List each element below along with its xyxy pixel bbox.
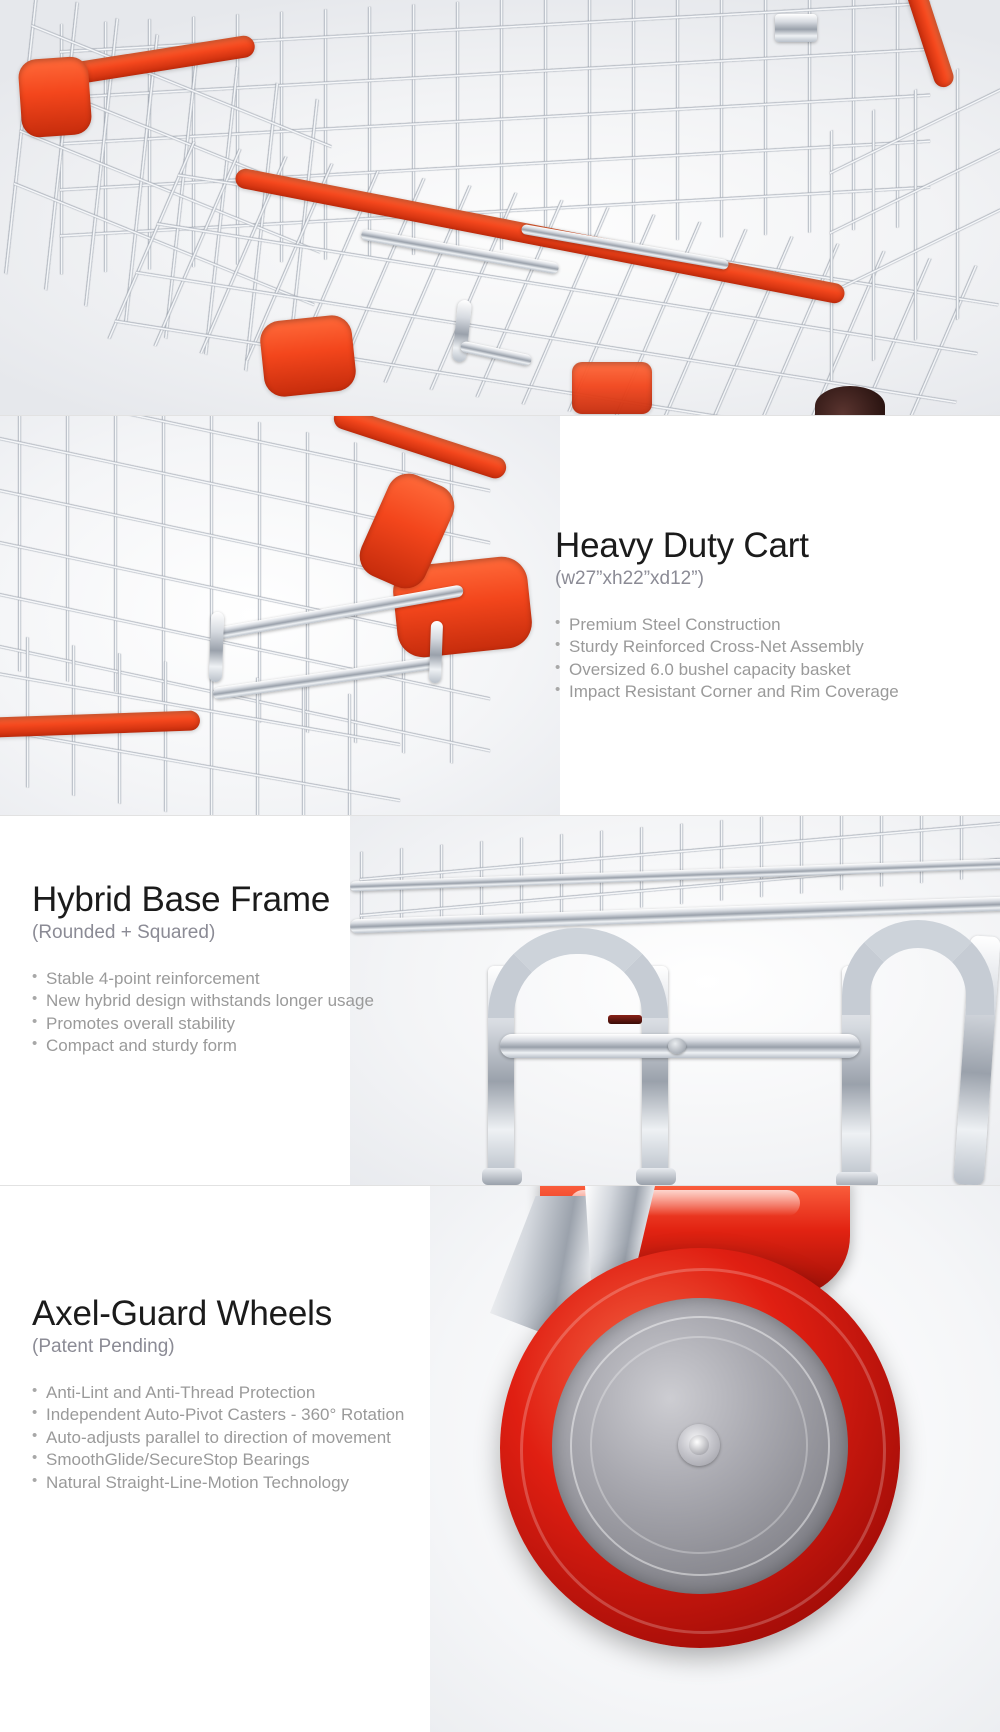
list-item: Stable 4-point reinforcement (32, 968, 452, 990)
list-item: Anti-Lint and Anti-Thread Protection (32, 1382, 472, 1404)
list-item: Independent Auto-Pivot Casters - 360° Ro… (32, 1404, 472, 1426)
infographic-page: Heavy Duty Cart (w27”xh22”xd12”) Premium… (0, 0, 1000, 1732)
feature-list: Stable 4-point reinforcement New hybrid … (32, 968, 452, 1058)
list-item: Sturdy Reinforced Cross-Net Assembly (555, 636, 975, 658)
caster-wheel-photo (430, 1186, 1000, 1732)
list-item: Oversized 6.0 bushel capacity basket (555, 659, 975, 681)
hybrid-base-frame-text: Hybrid Base Frame (Rounded + Squared) St… (32, 882, 452, 1074)
cart-corner-cap-upper-left (17, 56, 92, 139)
section-subheading: (Patent Pending) (32, 1336, 472, 1358)
axel-guard-wheels-text: Axel-Guard Wheels (Patent Pending) Anti-… (32, 1296, 472, 1510)
cart-corner-cap-lower-left (258, 313, 357, 398)
feature-list: Anti-Lint and Anti-Thread Protection Ind… (32, 1382, 472, 1494)
section-divider-1 (0, 415, 1000, 416)
list-item: Promotes overall stability (32, 1013, 452, 1035)
feature-list: Premium Steel Construction Sturdy Reinfo… (555, 614, 975, 704)
section-divider-3 (0, 1185, 1000, 1186)
cart-corner-photo (0, 416, 560, 815)
section-axel-guard-wheels: Axel-Guard Wheels (Patent Pending) Anti-… (0, 1186, 1000, 1732)
list-item: Compact and sturdy form (32, 1035, 452, 1057)
child-seat-flap (572, 362, 652, 414)
section-heading: Axel-Guard Wheels (32, 1296, 472, 1333)
section-divider-2 (0, 815, 1000, 816)
list-item: Natural Straight-Line-Motion Technology (32, 1472, 472, 1494)
section-subheading: (w27”xh22”xd12”) (555, 568, 975, 590)
section-heavy-duty-cart: Heavy Duty Cart (w27”xh22”xd12”) Premium… (0, 416, 1000, 815)
section-subheading: (Rounded + Squared) (32, 922, 452, 944)
section-hybrid-base-frame: Hybrid Base Frame (Rounded + Squared) St… (0, 816, 1000, 1185)
section-heading: Hybrid Base Frame (32, 882, 452, 919)
list-item: SmoothGlide/SecureStop Bearings (32, 1449, 472, 1471)
section-hero (0, 0, 1000, 415)
list-item: Auto-adjusts parallel to direction of mo… (32, 1427, 472, 1449)
cart-basket-photo (0, 0, 1000, 415)
section-heading: Heavy Duty Cart (555, 528, 975, 565)
list-item: Impact Resistant Corner and Rim Coverage (555, 681, 975, 703)
heavy-duty-cart-text: Heavy Duty Cart (w27”xh22”xd12”) Premium… (555, 528, 975, 720)
list-item: New hybrid design withstands longer usag… (32, 990, 452, 1012)
list-item: Premium Steel Construction (555, 614, 975, 636)
